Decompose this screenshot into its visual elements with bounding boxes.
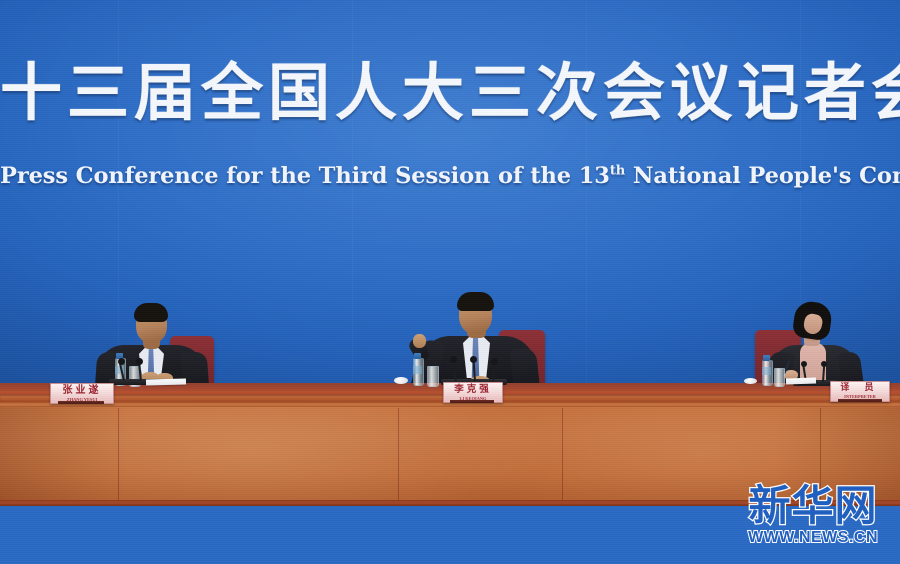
table-panel-seam [398,408,399,504]
water-bottle-label [413,366,422,374]
nameplate-right-stand [838,399,882,402]
microphone-head [118,358,125,365]
cup-saucer [744,378,757,384]
microphone-head [450,356,457,363]
nameplate-left-name-cn: 张业遂 [51,386,113,396]
press-conference-photo: 十三届全国人大三次会议记者会 Press Conference for the … [0,0,900,564]
watermark-logo-text: 新华网 [748,485,878,527]
document-papers [146,378,186,385]
microphone-head [136,358,143,365]
water-bottle-cap [763,355,770,361]
water-bottle-label [762,367,771,375]
table-panel-seam [118,408,119,504]
banner-title-english-part2: National People's Congress [625,163,900,189]
banner-title-chinese: 十三届全国人大三次会议记者会 [0,62,900,124]
microphone-head [491,358,498,365]
watermark-url: WWW.NEWS.CN [748,530,878,546]
participant-left-hair [134,303,168,322]
water-glass [427,366,439,387]
banner-title-english-part1: Press Conference for the Third Session o… [0,163,610,189]
microphone-head [821,361,827,367]
nameplate-center-name-cn: 李克强 [444,385,502,395]
banner-title-ordinal-suffix: th [610,164,625,179]
microphone-head [801,361,807,367]
water-bottle-cap [414,353,421,359]
water-glass [774,368,785,387]
microphone-head [470,356,477,363]
table-panel-seam [562,408,563,504]
nameplate-right-name-cn: 译 员 [831,384,889,393]
participant-center-hand-gesturing [413,334,426,348]
document-papers [786,377,816,384]
banner-title-english: Press Conference for the Third Session o… [0,165,900,188]
nameplate-left-stand [58,401,104,404]
participant-center-hair [457,292,494,311]
cup-saucer [394,377,408,384]
nameplate-center-stand [450,400,494,403]
watermark-xinhua: 新华网 WWW.NEWS.CN [748,485,878,546]
